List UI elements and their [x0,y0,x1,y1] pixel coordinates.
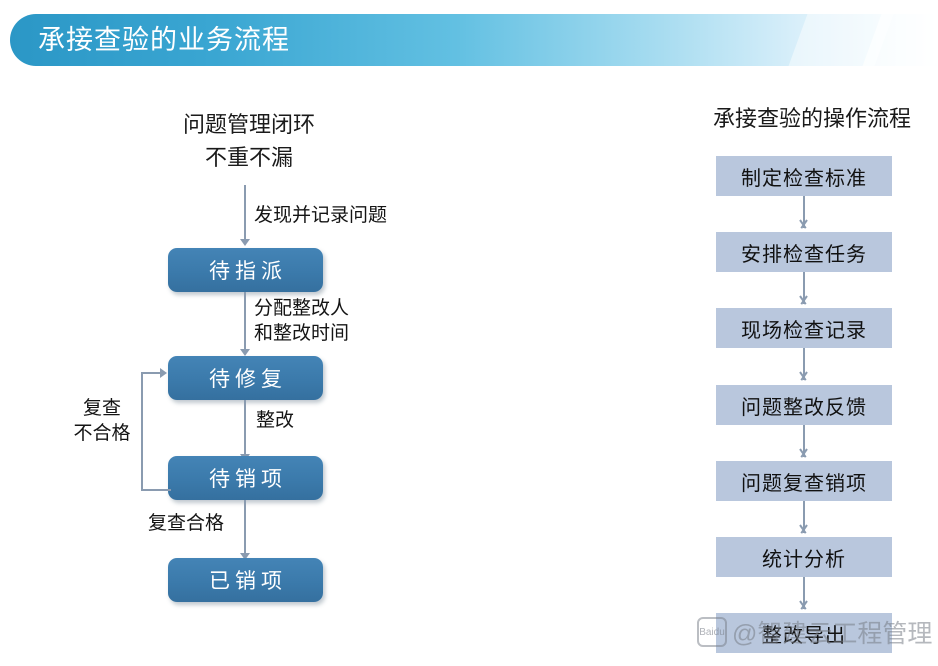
edge-label-recheck-fail-line1: 复查 [64,396,140,421]
edge-label-discover: 发现并记录问题 [254,203,387,228]
feedback-loop-top-segment [141,372,161,374]
left-node-closed-label: 已销项 [204,565,287,595]
right-node-statistics-analysis-label: 统计分析 [762,543,846,572]
connector-node3-to-node4 [244,500,246,554]
right-node-rectify-export[interactable]: 整改导出 [716,613,892,653]
arrowhead-feedback-loop [160,368,167,378]
right-arrowhead-3 [797,372,809,380]
right-node-site-inspection-record-label: 现场检查记录 [741,314,867,343]
right-node-issue-recheck-closeout[interactable]: 问题复查销项 [716,461,892,501]
left-node-pending-repair-label: 待修复 [204,363,287,393]
right-node-set-standard[interactable]: 制定检查标准 [716,156,892,196]
right-arrowhead-6 [797,601,809,609]
left-flow-title-line1: 问题管理闭环 [144,110,354,140]
right-node-arrange-task-label: 安排检查任务 [741,238,867,267]
left-node-pending-closeout[interactable]: 待销项 [168,456,323,500]
edge-label-assign-line1: 分配整改人 [254,296,349,321]
left-node-pending-assign-label: 待指派 [204,255,287,285]
right-node-issue-recheck-closeout-label: 问题复查销项 [741,467,867,496]
connector-node2-to-node3 [244,400,246,455]
arrowhead-title-to-node1 [240,239,250,246]
right-node-issue-rectify-feedback[interactable]: 问题整改反馈 [716,385,892,425]
right-arrowhead-4 [797,449,809,457]
feedback-loop-vertical-segment [141,372,143,491]
left-node-pending-repair[interactable]: 待修复 [168,356,323,400]
connector-node1-to-node2 [244,292,246,350]
right-node-site-inspection-record[interactable]: 现场检查记录 [716,308,892,348]
connector-title-to-node1 [244,185,246,240]
right-node-set-standard-label: 制定检查标准 [741,162,867,191]
edge-label-recheck-pass: 复查合格 [148,511,224,536]
left-node-pending-assign[interactable]: 待指派 [168,248,323,292]
right-node-statistics-analysis[interactable]: 统计分析 [716,537,892,577]
left-node-pending-closeout-label: 待销项 [204,463,287,493]
right-node-rectify-export-label: 整改导出 [762,619,846,648]
right-arrowhead-2 [797,296,809,304]
right-arrowhead-5 [797,525,809,533]
feedback-loop-bottom-segment [141,489,171,491]
right-node-issue-rectify-feedback-label: 问题整改反馈 [741,391,867,420]
page-title: 承接查验的业务流程 [38,14,290,66]
edge-label-recheck-fail-line2: 不合格 [64,421,140,446]
left-node-closed[interactable]: 已销项 [168,558,323,602]
header-banner: 承接查验的业务流程 [0,0,938,80]
edge-label-rectify: 整改 [256,408,294,433]
right-flow-title: 承接查验的操作流程 [690,104,934,134]
left-flow-title-line2: 不重不漏 [144,143,354,173]
right-node-arrange-task[interactable]: 安排检查任务 [716,232,892,272]
edge-label-assign-line2: 和整改时间 [254,321,349,346]
arrowhead-node1-to-node2 [240,349,250,356]
right-arrowhead-1 [797,220,809,228]
